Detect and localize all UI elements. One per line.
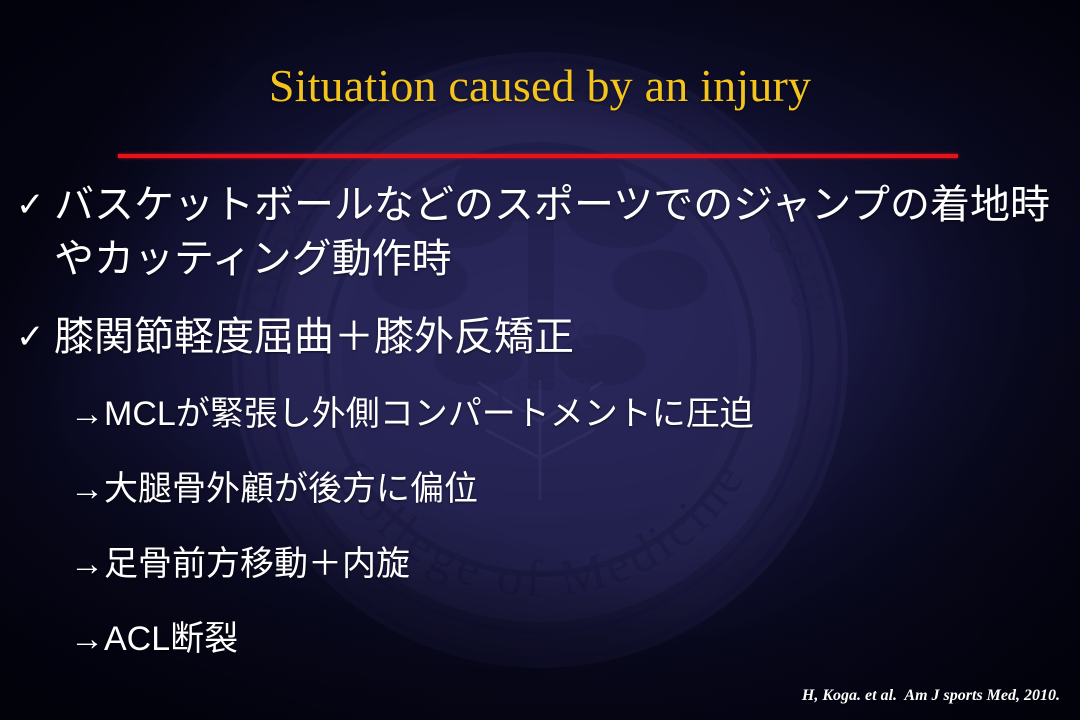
checkmark-icon: ✓ [16,310,54,364]
slide-canvas: Department of Orthopaedic Surgery Colleg… [0,0,1080,720]
sub-item-1: →MCLが緊張し外側コンパートメントに圧迫 [0,390,1080,438]
checkmark-icon: ✓ [16,178,54,232]
slide-body: ✓ バスケットボールなどのスポーツでのジャンプの着地時やカッティング動作時 ✓ … [0,178,1080,663]
bullet-item-1-label: バスケットボールなどのスポーツでのジャンプの着地時やカッティング動作時 [54,178,1062,286]
bullet-item-2-label: 膝関節軽度屈曲＋膝外反矯正 [54,310,1062,364]
bullet-item-1: ✓ バスケットボールなどのスポーツでのジャンプの着地時やカッティング動作時 [0,178,1080,286]
sub-item-4: →ACL断裂 [0,615,1080,663]
title-underline-rule [118,154,958,158]
citation-reference: H, Koga. et al. Am J sports Med, 2010. [802,686,1060,706]
bullet-item-2: ✓ 膝関節軽度屈曲＋膝外反矯正 [0,310,1080,364]
sub-item-2: →大腿骨外顧が後方に偏位 [0,465,1080,513]
slide-title: Situation caused by an injury [0,60,1080,112]
sub-item-3: →足骨前方移動＋内旋 [0,540,1080,588]
